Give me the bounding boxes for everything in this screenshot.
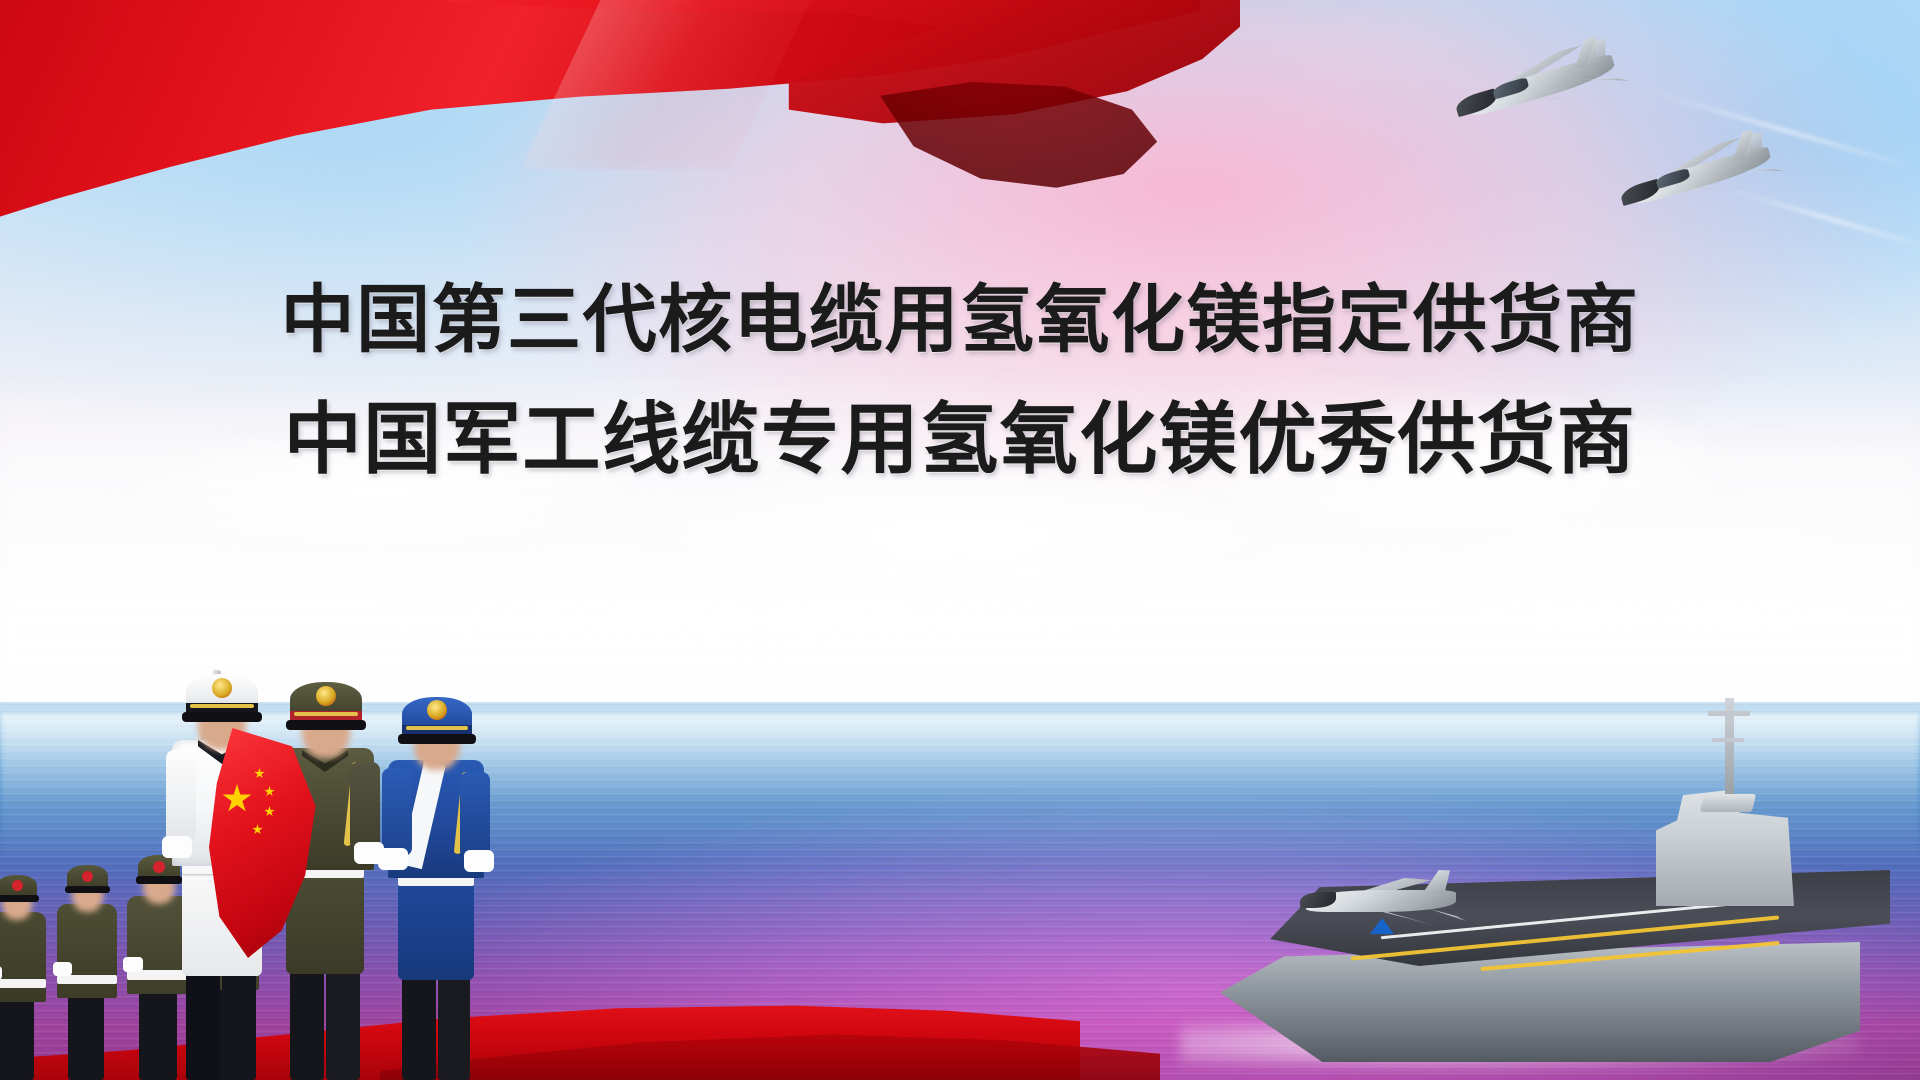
flag-small-star [264,806,275,817]
airforce-guard-glove [464,850,494,872]
flag-small-star [254,768,265,779]
honor-guard-marching-row [0,660,520,1080]
aircraft-carrier-icon [1180,662,1920,1062]
guard-glove [123,957,143,972]
army-guard-cap-badge [316,686,336,706]
guard-legs [68,986,104,1080]
army-guard-arm [350,762,380,850]
army-guard-glove [354,842,384,864]
airforce-guard-arm [460,772,490,858]
navy-guard-cap-brim [182,712,262,722]
guard-legs [0,990,34,1080]
flag-big-star [222,784,252,814]
guard-cap-badge [82,871,93,882]
promotional-banner: 中国第三代核电缆用氢氧化镁指定供货商 中国军工线缆专用氢氧化镁优秀供货商 [0,0,1920,1080]
navy-guard-glove [162,836,192,858]
carrier-mast-crossbar [1712,738,1744,742]
navy-guard-legs [186,964,220,1080]
airforce-guard-trousers [398,870,474,980]
carrier-mast-crossbar [1708,711,1750,716]
airforce-guard-cap-badge [427,700,447,720]
airforce-guard-legs [438,974,470,1080]
army-guard-cap-cord [294,712,358,716]
army-honor-guard-green-uniform [0,850,52,1080]
sky-haze [0,367,1920,669]
carrier-hull [1220,942,1860,1062]
guard-belt [0,979,46,988]
guard-belt [57,975,117,984]
deck-jet-stabilizer [1426,908,1466,921]
army-guard-legs [326,968,360,1080]
airforce-guard-cap-brim [398,734,476,744]
guard-torso [0,912,46,1002]
airforce-guard-cap-cord [406,726,468,730]
flag-small-star [252,824,263,835]
navy-guard-arm [166,750,196,842]
guard-cap-brim [65,886,110,893]
guard-cap-brim [0,895,39,902]
deck-fighter-jet-icon [1300,862,1480,942]
navy-guard-legs [222,970,256,1080]
guard-glove [53,962,72,976]
carrier-radar-array [1700,794,1756,812]
navy-guard-cap-badge [212,678,232,698]
airforce-guard-legs [402,968,436,1080]
guard-cap-badge [12,880,23,891]
army-honor-guard-green-uniform [52,840,122,1080]
navy-guard-cap-cord [190,704,254,708]
flag-small-star [264,786,275,797]
deck-jet-roundel [1370,918,1394,934]
